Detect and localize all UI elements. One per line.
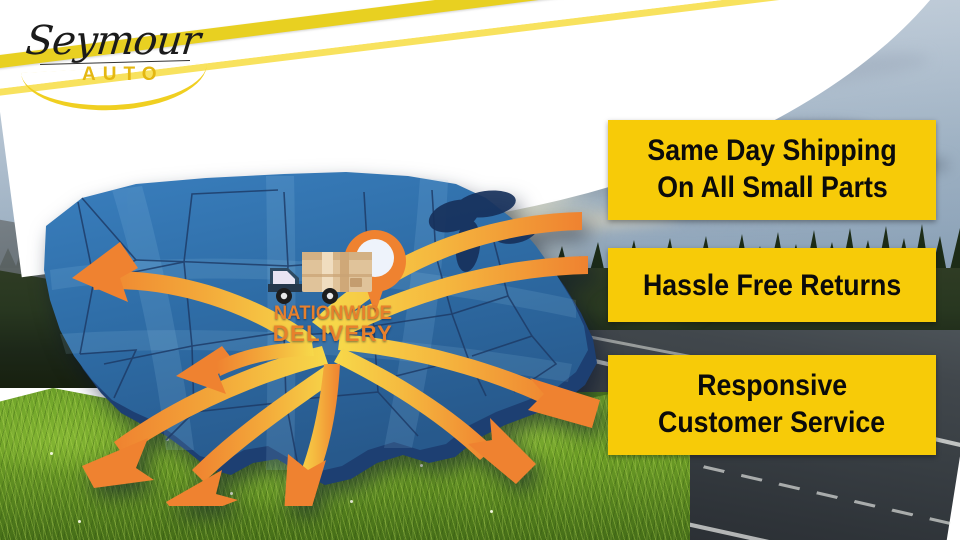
banner-line: Hassle Free Returns [643,269,901,302]
flower [78,520,81,523]
banner-line: Responsive [697,368,847,405]
logo-auto-text: AUTO [82,64,163,86]
nationwide-line: NATIONWIDE [255,304,411,323]
banner-same-day-shipping[interactable]: Same Day Shipping On All Small Parts [608,120,936,220]
seymour-auto-logo[interactable]: Seymour AUTO [22,16,198,102]
flower [490,510,493,513]
banner-responsive-customer-service[interactable]: Responsive Customer Service [608,355,936,455]
nationwide-delivery-label: NATIONWIDE DELIVERY [252,304,414,346]
logo-script-text: Seymour [24,18,202,64]
delivery-truck-icon [266,248,378,310]
nationwide-delivery-mark: NATIONWIDE DELIVERY [258,230,408,350]
delivery-line: DELIVERY [252,323,414,345]
promo-banner-stage: Seymour AUTO [0,0,960,540]
banner-line: Customer Service [658,405,885,442]
banner-line: On All Small Parts [657,170,887,207]
banner-line: Same Day Shipping [647,133,896,170]
banner-hassle-free-returns[interactable]: Hassle Free Returns [608,248,936,322]
